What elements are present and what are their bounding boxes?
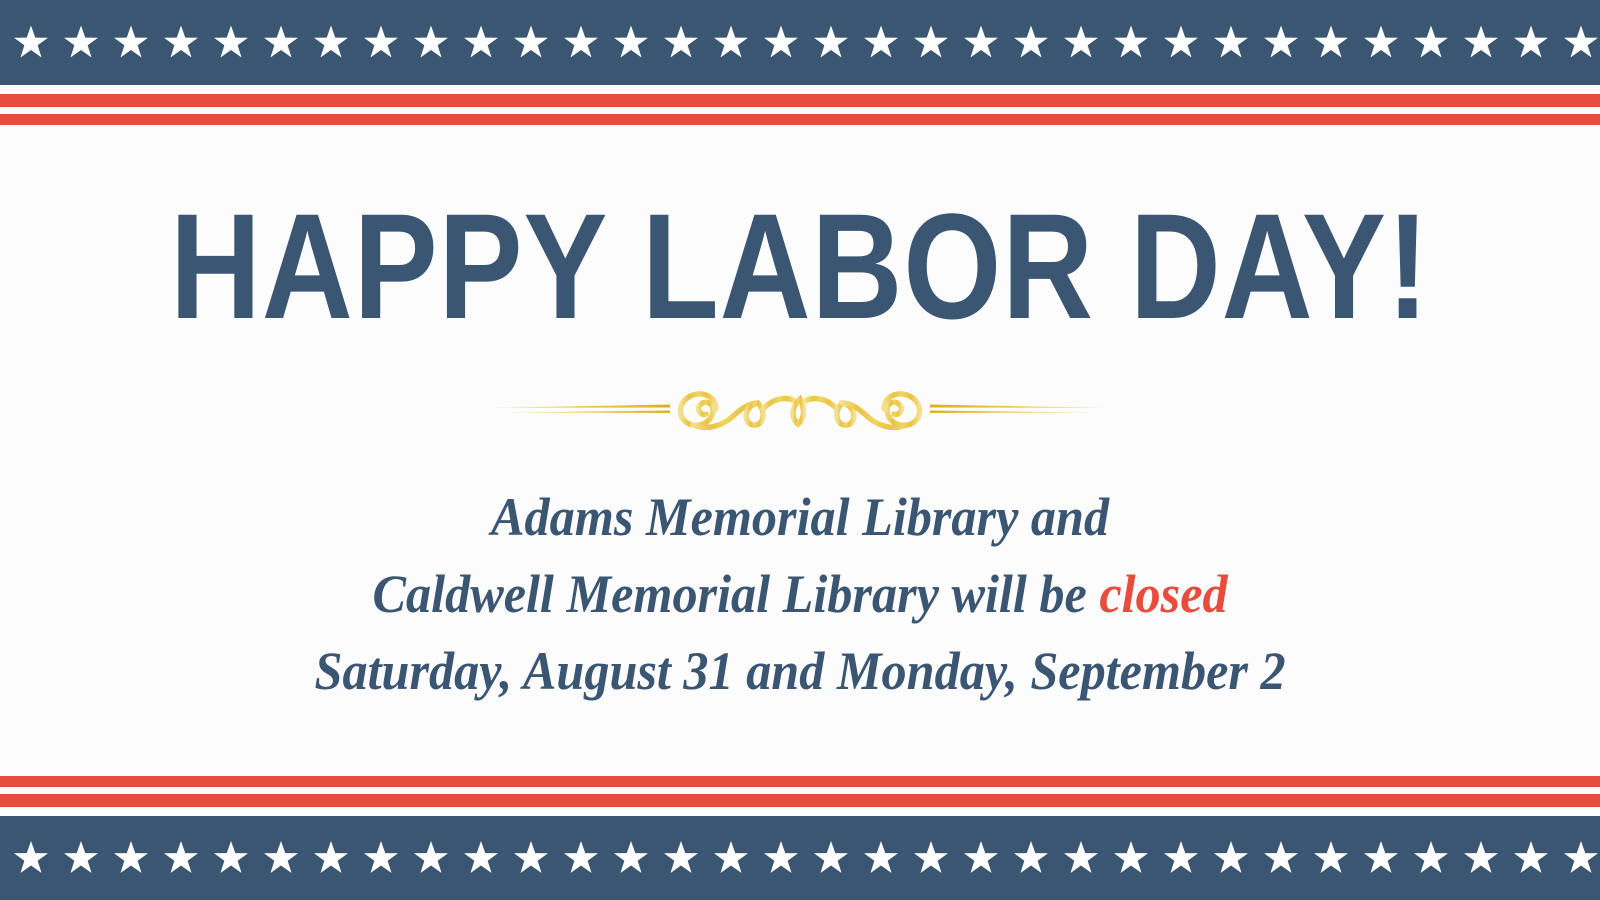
star-icon	[1214, 26, 1248, 60]
star-icon	[464, 841, 498, 875]
bottom-star-band	[0, 816, 1600, 900]
star-icon	[1314, 26, 1348, 60]
message-line-1: Adams Memorial Library and	[314, 479, 1285, 556]
star-icon	[1314, 841, 1348, 875]
top-red-stripe-2	[0, 114, 1600, 125]
star-icon	[914, 26, 948, 60]
bottom-decorative-border	[0, 776, 1600, 900]
star-icon	[1114, 841, 1148, 875]
message-line-3: Saturday, August 31 and Monday, Septembe…	[314, 633, 1285, 710]
star-icon	[564, 26, 598, 60]
flourish-divider-icon	[480, 379, 1120, 435]
page-title: HAPPY LABOR DAY!	[170, 191, 1430, 341]
bottom-stripe-gap-2	[0, 807, 1600, 816]
star-icon	[1464, 841, 1498, 875]
star-icon	[614, 26, 648, 60]
star-icon	[1114, 26, 1148, 60]
star-icon	[1214, 841, 1248, 875]
star-icon	[714, 841, 748, 875]
labor-day-announcement-poster: HAPPY LABOR DAY!	[0, 0, 1600, 900]
star-icon	[1064, 841, 1098, 875]
star-icon	[314, 841, 348, 875]
star-icon	[214, 841, 248, 875]
star-icon	[414, 26, 448, 60]
star-icon	[364, 841, 398, 875]
star-icon	[514, 26, 548, 60]
star-icon	[1364, 841, 1398, 875]
star-icon	[264, 26, 298, 60]
star-icon	[1164, 26, 1198, 60]
star-icon	[1014, 26, 1048, 60]
star-icon	[1414, 841, 1448, 875]
star-icon	[664, 26, 698, 60]
star-icon	[1164, 841, 1198, 875]
star-icon	[264, 841, 298, 875]
star-icon	[414, 841, 448, 875]
star-icon	[1464, 26, 1498, 60]
top-stripe-gap-1	[0, 85, 1600, 94]
star-icon	[714, 26, 748, 60]
star-icon	[1264, 26, 1298, 60]
message-line-2-text: Caldwell Memorial Library will be	[372, 564, 1099, 624]
star-icon	[1514, 841, 1548, 875]
closed-highlight: closed	[1099, 564, 1227, 624]
closure-message: Adams Memorial Library and Caldwell Memo…	[314, 479, 1285, 709]
star-icon	[764, 26, 798, 60]
star-icon	[1564, 841, 1598, 875]
star-icon	[1564, 26, 1598, 60]
star-icon	[164, 841, 198, 875]
bottom-red-stripe-1	[0, 776, 1600, 787]
star-icon	[864, 841, 898, 875]
star-icon	[364, 26, 398, 60]
star-icon	[314, 26, 348, 60]
star-icon	[64, 841, 98, 875]
bottom-star-row	[0, 816, 1600, 900]
star-icon	[14, 26, 48, 60]
star-icon	[464, 26, 498, 60]
star-icon	[1414, 26, 1448, 60]
star-icon	[214, 26, 248, 60]
top-stripe-stack	[0, 85, 1600, 125]
top-star-band	[0, 0, 1600, 85]
bottom-red-stripe-2	[0, 794, 1600, 807]
bottom-stripe-stack	[0, 776, 1600, 816]
star-icon	[1514, 26, 1548, 60]
star-icon	[814, 26, 848, 60]
poster-content: HAPPY LABOR DAY!	[0, 125, 1600, 776]
star-icon	[1014, 841, 1048, 875]
star-icon	[964, 841, 998, 875]
top-red-stripe-1	[0, 94, 1600, 107]
bottom-stripe-gap-1	[0, 787, 1600, 794]
star-icon	[514, 841, 548, 875]
message-line-2: Caldwell Memorial Library will be closed	[314, 556, 1285, 633]
star-icon	[914, 841, 948, 875]
top-star-row	[0, 0, 1600, 85]
star-icon	[764, 841, 798, 875]
star-icon	[1364, 26, 1398, 60]
star-icon	[164, 26, 198, 60]
top-stripe-gap-2	[0, 107, 1600, 114]
star-icon	[564, 841, 598, 875]
star-icon	[964, 26, 998, 60]
star-icon	[114, 26, 148, 60]
star-icon	[1264, 841, 1298, 875]
star-icon	[614, 841, 648, 875]
top-decorative-border	[0, 0, 1600, 125]
star-icon	[814, 841, 848, 875]
star-icon	[114, 841, 148, 875]
star-icon	[864, 26, 898, 60]
star-icon	[14, 841, 48, 875]
star-icon	[1064, 26, 1098, 60]
star-icon	[64, 26, 98, 60]
star-icon	[664, 841, 698, 875]
